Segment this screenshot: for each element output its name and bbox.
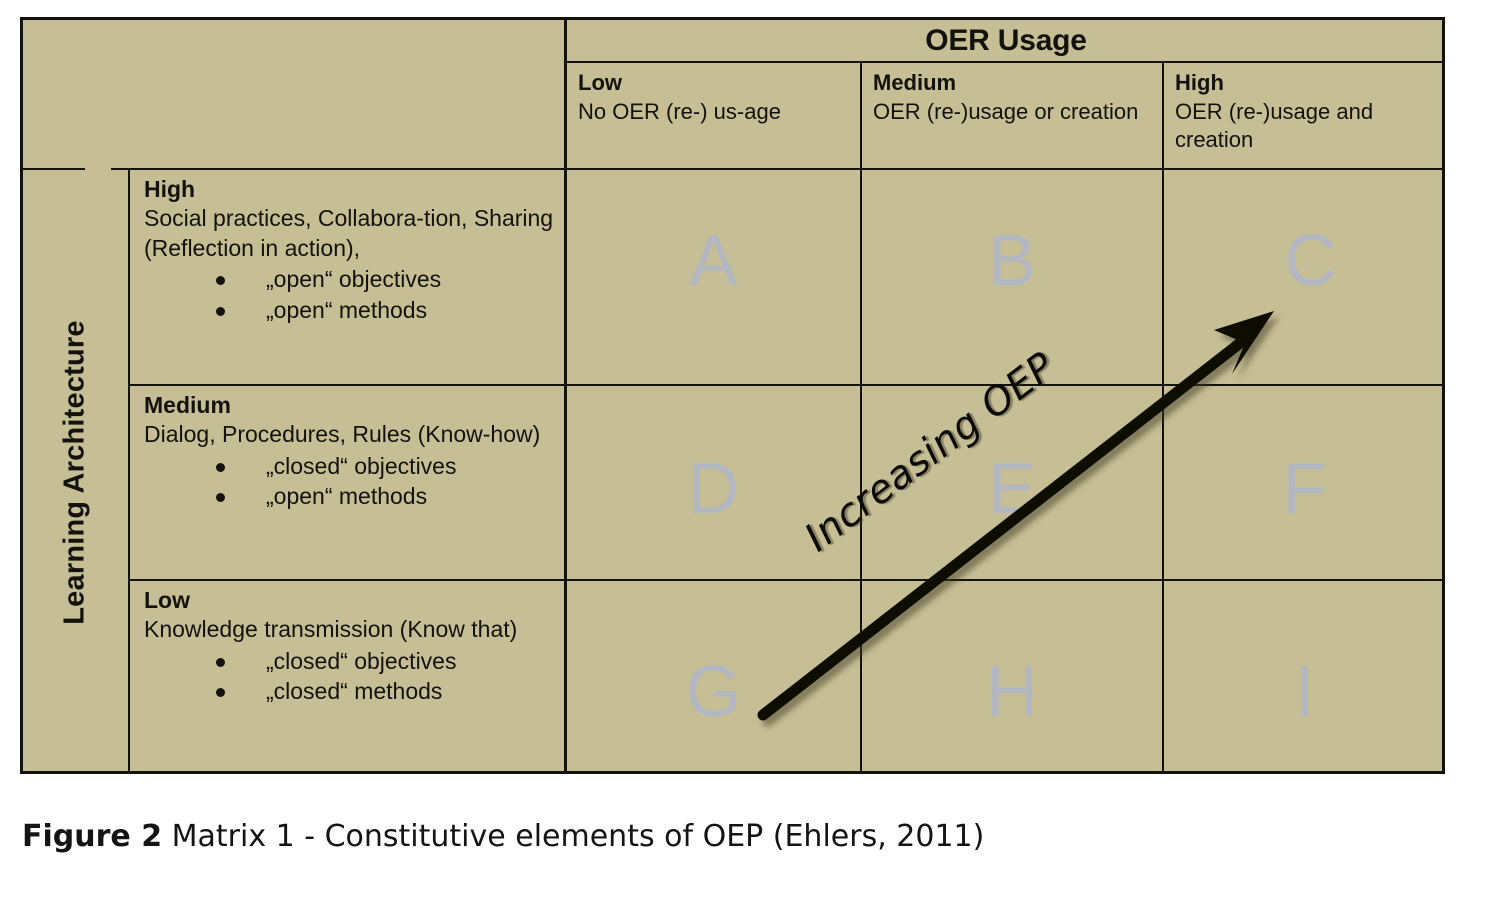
row-header-low: Low Knowledge transmission (Know that) „…	[128, 579, 564, 774]
matrix-cell-h: H	[860, 579, 1162, 774]
matrix-cell-f-label: F	[1283, 453, 1327, 525]
row-header-medium-level: Medium	[144, 391, 558, 420]
row-header-medium-bullets: „closed“ objectives „open“ methods	[144, 451, 558, 512]
list-item: „closed“ objectives	[216, 646, 558, 676]
column-header-low-level: Low	[578, 69, 852, 98]
figure-caption: Figure 2 Matrix 1 - Constitutive element…	[22, 822, 984, 852]
figure-caption-text: Matrix 1 - Constitutive elements of OEP …	[162, 819, 984, 854]
list-item: „closed“ objectives	[216, 451, 558, 481]
column-header-high-level: High	[1175, 69, 1437, 98]
row-axis-title-cell: Learning Architecture	[23, 168, 128, 774]
list-item: „open“ methods	[216, 481, 558, 511]
matrix-cell-i: I	[1162, 579, 1445, 774]
oep-matrix-table: OER Usage Low No OER (re-) us-age Medium…	[20, 17, 1445, 774]
row-header-medium-description: Dialog, Procedures, Rules (Know-how)	[144, 420, 558, 449]
row-header-high-description: Social practices, Collabora-tion, Sharin…	[144, 204, 558, 263]
border-gap-decoration	[85, 166, 111, 171]
row-axis-title: Learning Architecture	[59, 320, 92, 624]
column-axis-title-cell: OER Usage	[564, 20, 1445, 61]
matrix-cell-c: C	[1162, 168, 1445, 384]
matrix-cell-a: A	[564, 168, 860, 384]
column-header-high: High OER (re-)usage and creation	[1162, 61, 1445, 168]
column-header-low: Low No OER (re-) us-age	[564, 61, 860, 168]
list-item: „closed“ methods	[216, 676, 558, 706]
column-header-low-description: No OER (re-) us-age	[578, 98, 852, 127]
matrix-cell-a-label: A	[689, 225, 737, 297]
figure-container: OER Usage Low No OER (re-) us-age Medium…	[0, 0, 1488, 904]
column-axis-title: OER Usage	[925, 26, 1087, 56]
matrix-cell-f: F	[1162, 384, 1445, 579]
matrix-cell-g-label: G	[685, 656, 741, 728]
column-header-medium-description: OER (re-)usage or creation	[873, 98, 1154, 127]
matrix-cell-e-label: E	[988, 453, 1036, 525]
matrix-cell-i-label: I	[1294, 656, 1314, 728]
matrix-cell-c-label: C	[1285, 225, 1337, 297]
matrix-cell-b-label: B	[988, 225, 1036, 297]
row-header-low-level: Low	[144, 586, 558, 615]
list-item: „open“ methods	[216, 295, 558, 325]
table-corner-blank	[23, 20, 564, 168]
row-header-low-description: Knowledge transmission (Know that)	[144, 615, 558, 644]
row-header-medium: Medium Dialog, Procedures, Rules (Know-h…	[128, 384, 564, 579]
list-item: „open“ objectives	[216, 264, 558, 294]
column-header-medium-level: Medium	[873, 69, 1154, 98]
column-header-medium: Medium OER (re-)usage or creation	[860, 61, 1162, 168]
figure-caption-label: Figure 2	[22, 819, 162, 854]
row-header-high-level: High	[144, 175, 558, 204]
matrix-cell-g: G	[564, 579, 860, 774]
matrix-cell-b: B	[860, 168, 1162, 384]
row-header-low-bullets: „closed“ objectives „closed“ methods	[144, 646, 558, 707]
column-header-high-description: OER (re-)usage and creation	[1175, 98, 1437, 155]
row-header-high-bullets: „open“ objectives „open“ methods	[144, 264, 558, 325]
row-header-high: High Social practices, Collabora-tion, S…	[128, 168, 564, 384]
matrix-cell-d-label: D	[688, 453, 740, 525]
matrix-cell-h-label: H	[986, 656, 1038, 728]
